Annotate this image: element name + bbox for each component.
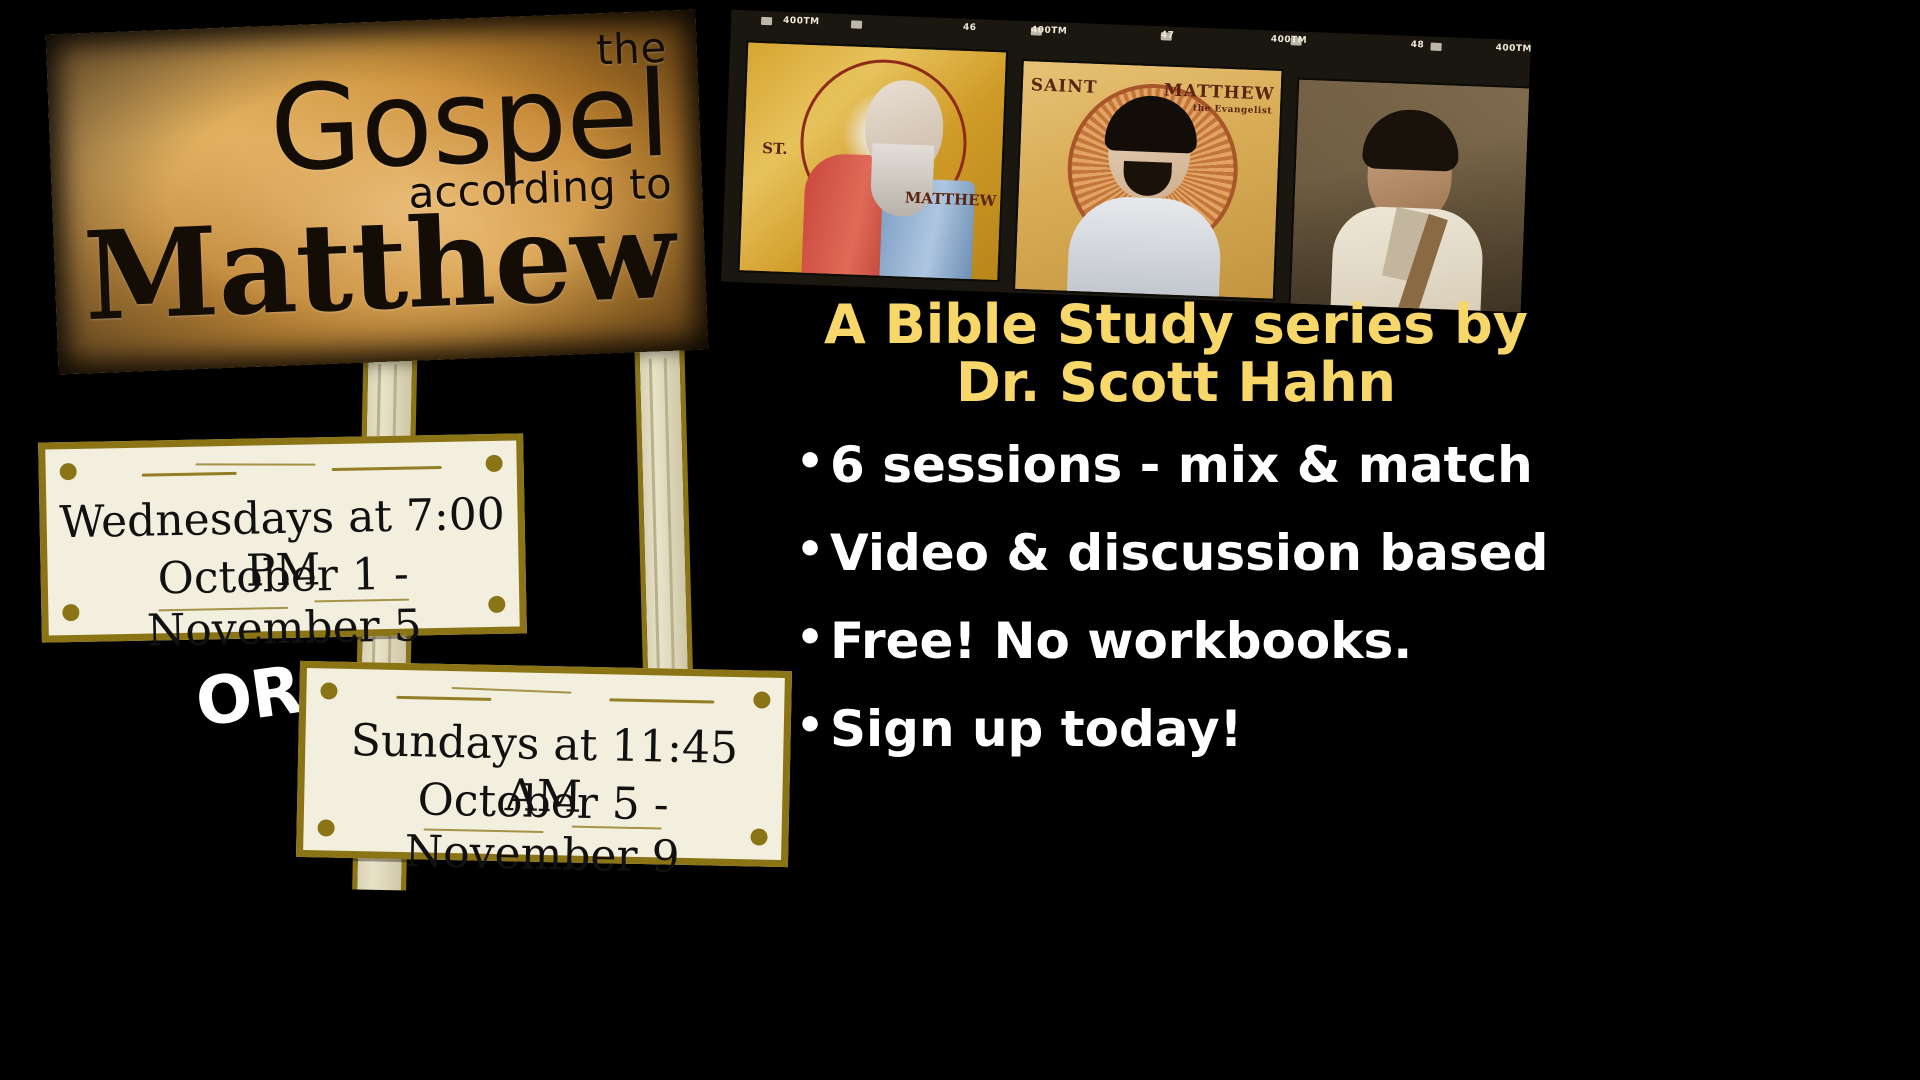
list-item: • Video & discussion based [790, 528, 1900, 578]
bullet-dot-icon: • [790, 616, 830, 660]
film-photo-1: ST. MATTHEW [737, 40, 1008, 282]
schedule-sign-sunday: Sundays at 11:45 AM October 5 - November… [296, 661, 792, 867]
photo1-caption-right: MATTHEW [904, 189, 996, 211]
promo-heading-line1: A Bible Study series by [824, 293, 1528, 356]
list-item: • 6 sessions - mix & match [790, 440, 1900, 490]
schedule-sign-wednesday: Wednesdays at 7:00 PM October 1 -Novembe… [38, 433, 527, 642]
bullet-text: 6 sessions - mix & match [830, 440, 1900, 490]
film-photo-2: SAINT MATTHEW the Evangelist [1013, 59, 1284, 301]
photo2-caption-left: SAINT [1030, 75, 1097, 98]
promo-heading: A Bible Study series by Dr. Scott Hahn [726, 296, 1626, 413]
poster-canvas: the Gospel according to Matthew Wednesda… [0, 0, 1920, 1080]
schedule-separator-or: OR [191, 651, 306, 742]
film-frame-number: 48 [1410, 40, 1424, 51]
screw-icon [485, 455, 502, 472]
photo2-caption-right: MATTHEW [1163, 80, 1275, 104]
bullet-text: Sign up today! [830, 704, 1900, 754]
gospel-title-parchment: the Gospel according to Matthew [46, 10, 709, 375]
photo1-caption-left: ST. [762, 139, 788, 158]
sunday-date-line: October 5 - November 9 [303, 772, 783, 886]
filmstrip: 400TM 46 400TM 47 400TM 48 400TM ST. MAT… [721, 10, 1531, 313]
film-frame-number: 46 [963, 23, 977, 34]
bullet-text: Free! No workbooks. [830, 616, 1900, 666]
film-photo-3 [1288, 78, 1531, 313]
screw-icon [60, 463, 77, 480]
bullet-dot-icon: • [790, 704, 830, 748]
film-code: 400TM [1031, 25, 1068, 36]
title-line-matthew: Matthew [82, 193, 677, 338]
screw-icon [753, 691, 770, 708]
bullet-dot-icon: • [790, 440, 830, 484]
film-frame-number: 47 [1161, 30, 1175, 41]
list-item: • Sign up today! [790, 704, 1900, 754]
film-code: 400TM [1495, 43, 1531, 54]
bullet-text: Video & discussion based [830, 528, 1900, 578]
screw-icon [320, 682, 337, 699]
wednesday-date-line: October 1 -November 5 [47, 546, 520, 659]
bullet-dot-icon: • [790, 528, 830, 572]
promo-heading-line2: Dr. Scott Hahn [726, 354, 1626, 412]
film-code: 400TM [1271, 34, 1308, 45]
promo-bullet-list: • 6 sessions - mix & match • Video & dis… [790, 440, 1900, 792]
list-item: • Free! No workbooks. [790, 616, 1900, 666]
film-code: 400TM [783, 16, 820, 27]
